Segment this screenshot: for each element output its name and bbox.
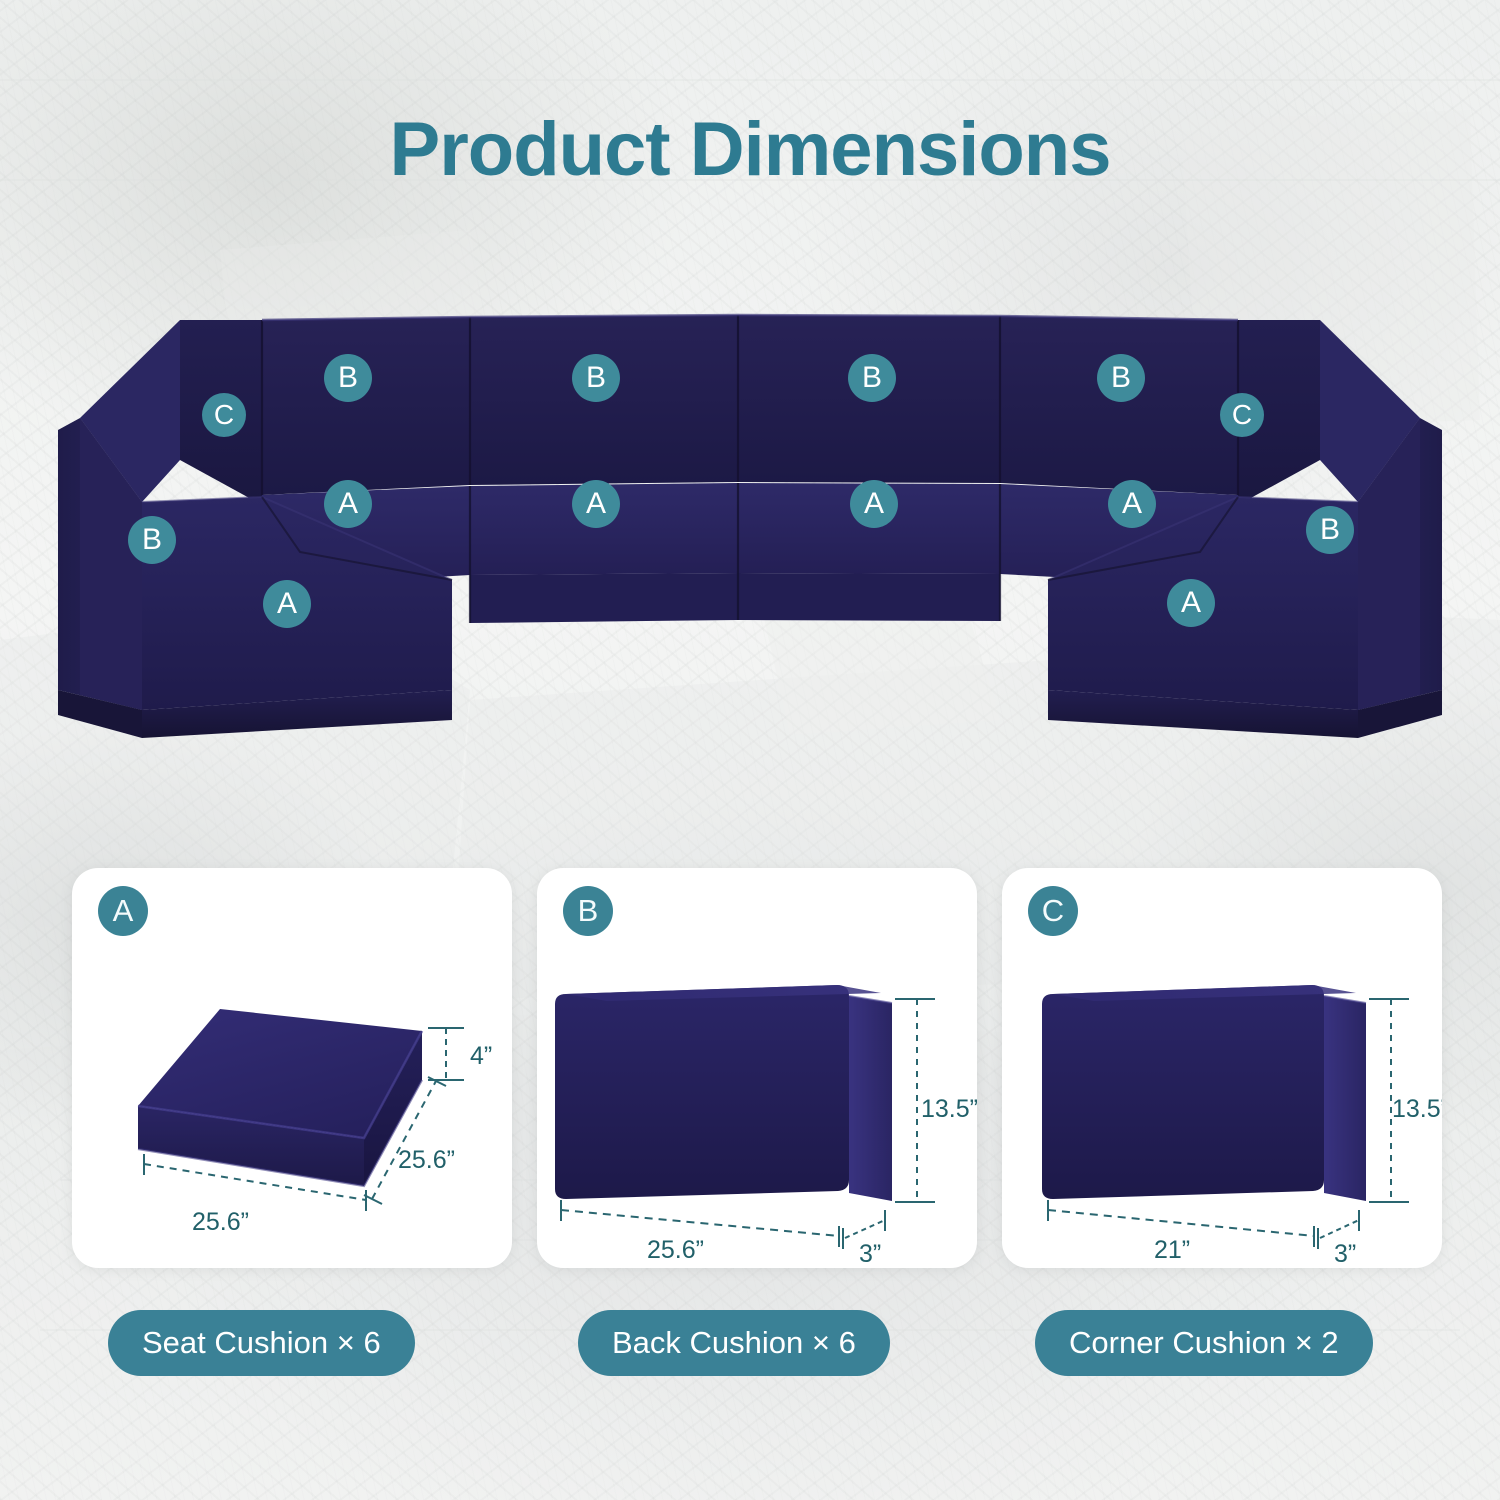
dim-height-a: 4” [470, 1042, 492, 1070]
sofa-badge-back-cushion-0: B [324, 354, 372, 402]
sofa-badge-seat-cushion-13: A [1167, 579, 1215, 627]
sofa-badge-back-cushion-6: B [128, 516, 176, 564]
dim-width-a: 25.6” [192, 1208, 249, 1236]
background-furniture-silhouettes [0, 0, 1500, 1500]
dim-depth-c: 3” [1334, 1240, 1356, 1268]
pill-seat-cushion[interactable]: Seat Cushion × 6 [108, 1310, 415, 1376]
sofa-badge-seat-cushion-11: A [1108, 480, 1156, 528]
dim-width-b: 25.6” [647, 1236, 704, 1264]
sofa-badge-back-cushion-3: B [1097, 354, 1145, 402]
sofa-badge-seat-cushion-12: A [263, 580, 311, 628]
sofa-illustration [0, 290, 1500, 740]
sofa-badge-back-cushion-7: B [1306, 506, 1354, 554]
dim-height-c: 13.5” [1392, 1095, 1442, 1123]
sectional-sofa-diagram: BBBBCCBBAAAAAA [0, 290, 1500, 740]
pill-corner-cushion[interactable]: Corner Cushion × 2 [1035, 1310, 1373, 1376]
page-title: Product Dimensions [0, 106, 1500, 193]
card-seat-cushion[interactable]: A [72, 868, 512, 1268]
dim-depth-b: 3” [859, 1240, 881, 1268]
sofa-badge-corner-cushion-4: C [202, 393, 246, 437]
cushion-detail-cards: A [0, 868, 1500, 1268]
sofa-badge-seat-cushion-10: A [850, 480, 898, 528]
card-back-cushion[interactable]: B [537, 868, 977, 1268]
dim-width-c: 21” [1154, 1236, 1190, 1264]
sofa-badge-back-cushion-1: B [572, 354, 620, 402]
card-corner-cushion[interactable]: C [1002, 868, 1442, 1268]
sofa-badge-back-cushion-2: B [848, 354, 896, 402]
seat-cushion-3d-illustration: 4” 25.6” 25.6” [72, 868, 512, 1268]
corner-cushion-3d-illustration: 13.5” 21” 3” [1002, 868, 1442, 1268]
sofa-badge-corner-cushion-5: C [1220, 393, 1264, 437]
sofa-badge-seat-cushion-8: A [324, 480, 372, 528]
sofa-badge-seat-cushion-9: A [572, 480, 620, 528]
dim-depth-a: 25.6” [398, 1146, 455, 1174]
pill-back-cushion[interactable]: Back Cushion × 6 [578, 1310, 890, 1376]
dim-height-b: 13.5” [921, 1095, 977, 1123]
cushion-count-labels: Seat Cushion × 6 Back Cushion × 6 Corner… [0, 1310, 1500, 1400]
background-photo [0, 0, 1500, 1500]
back-cushion-3d-illustration: 13.5” 25.6” 3” [537, 868, 977, 1268]
